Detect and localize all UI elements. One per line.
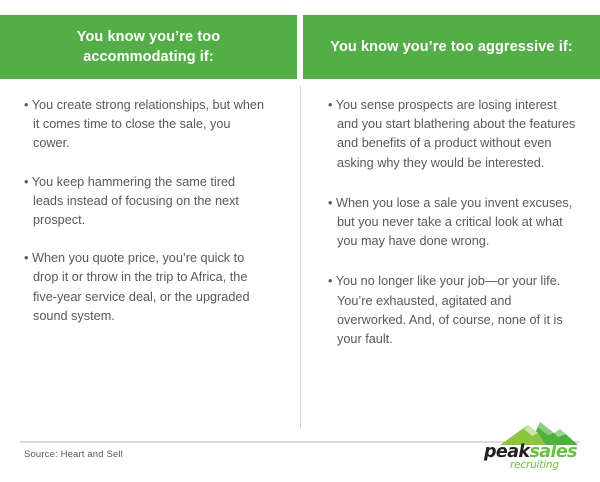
header-aggressive-title: You know you’re too aggressive if: [330,37,572,57]
column-aggressive: • You sense prospects are losing interes… [300,96,600,426]
peak-sales-recruiting-logo: peaksales recruiting [484,420,588,472]
list-item: • When you lose a sale you invent excuse… [328,194,576,252]
header-row: You know you’re too accommodating if: Yo… [0,15,600,79]
list-item: • You sense prospects are losing interes… [328,96,576,173]
column-accommodating: • You create strong relationships, but w… [0,96,300,426]
logo-tagline: recruiting [510,459,559,471]
infographic-root: You know you’re too accommodating if: Yo… [0,0,600,482]
header-aggressive: You know you’re too aggressive if: [303,15,600,79]
columns-container: • You create strong relationships, but w… [0,96,600,426]
list-item: • You create strong relationships, but w… [24,96,266,154]
list-item: • You no longer like your job—or your li… [328,272,576,349]
source-citation: Source: Heart and Sell [24,449,123,460]
header-accommodating: You know you’re too accommodating if: [0,15,297,79]
list-item: • You keep hammering the same tired lead… [24,173,266,231]
header-accommodating-title: You know you’re too accommodating if: [26,27,271,67]
list-item: • When you quote price, you’re quick to … [24,249,266,326]
footer: Source: Heart and Sell peaksales recruit… [0,428,600,482]
